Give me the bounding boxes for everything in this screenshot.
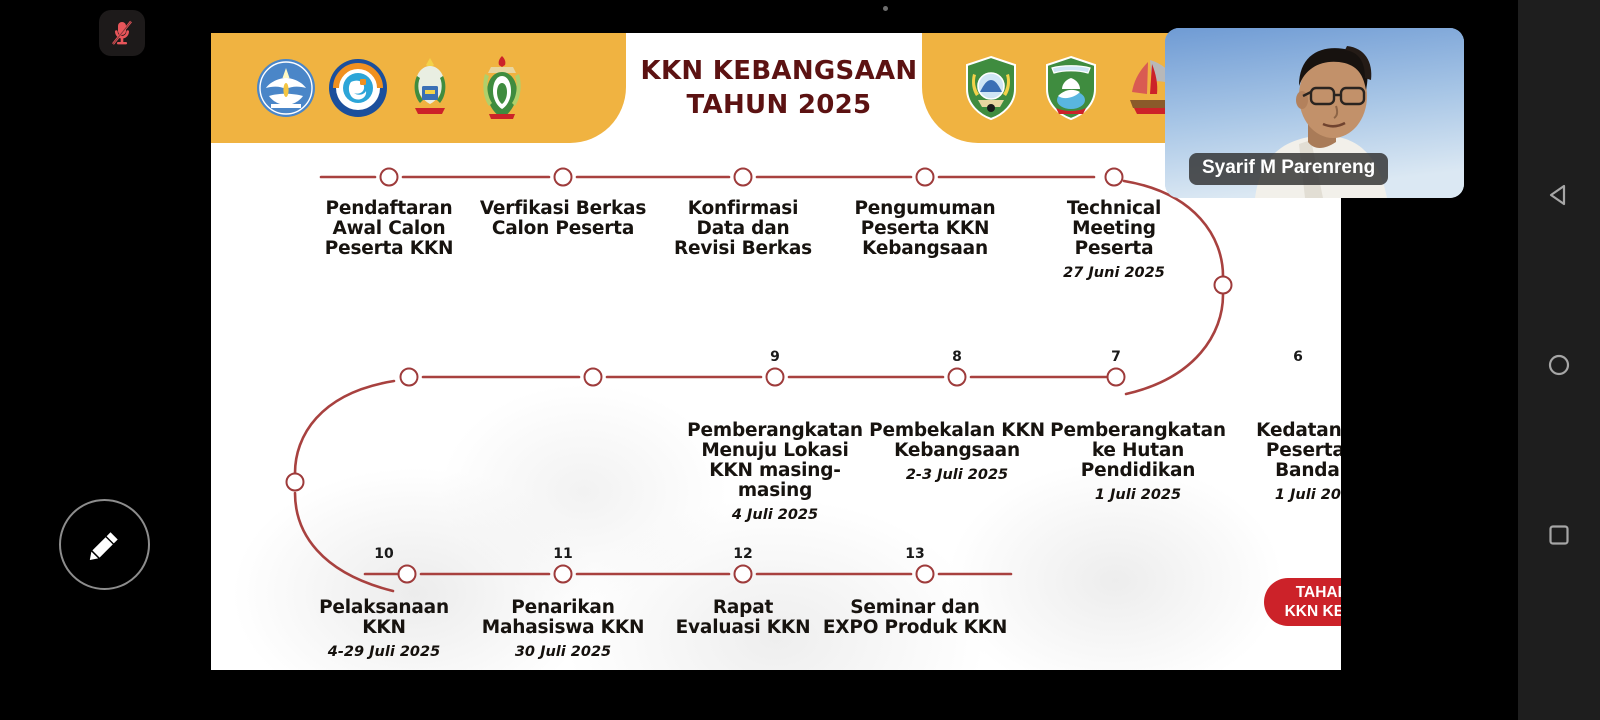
back-triangle-icon <box>1544 180 1574 210</box>
pencil-icon <box>85 525 125 565</box>
timeline-node[interactable] <box>1107 368 1126 387</box>
status-badge-line1: TAHAPAN PELAKSANAAN <box>1296 583 1341 602</box>
timeline-step-date: 1 Juli 2025 <box>1228 485 1341 505</box>
timeline-step-number: 12 <box>733 546 752 562</box>
home-circle-icon <box>1544 350 1574 380</box>
timeline-step-number: 6 <box>1293 349 1303 365</box>
timeline-step-date: 4 Juli 2025 <box>675 505 875 525</box>
status-badge-line2: KKN KEBANGSAAN GEL. 114 <box>1285 602 1341 621</box>
timeline-step-label: KonfirmasiData danRevisi Berkas <box>643 199 843 259</box>
timeline-node[interactable] <box>584 368 603 387</box>
recents-square-icon <box>1544 520 1574 550</box>
timeline-node[interactable] <box>734 565 753 584</box>
timeline-step-label: Verfikasi BerkasCalon Peserta <box>453 199 673 239</box>
nav-recents-button[interactable] <box>1542 518 1576 552</box>
timeline-node[interactable] <box>1105 168 1124 187</box>
timeline-node[interactable] <box>734 168 753 187</box>
timeline-node[interactable] <box>916 565 935 584</box>
timeline-step-date: 4-29 Juli 2025 <box>289 642 479 662</box>
participant-video-tile[interactable]: Syarif M Parenreng <box>1165 28 1464 198</box>
timeline-step-number: 13 <box>905 546 924 562</box>
timeline-step-title: Pemberangkatanke HutanPendidikan <box>1050 420 1226 481</box>
timeline-node[interactable] <box>948 368 967 387</box>
timeline-step-title: PenarikanMahasiswa KKN <box>482 597 644 638</box>
nav-home-button[interactable] <box>1542 348 1576 382</box>
screen-root: KKN KEBANGSAAN TAHUN 2025 <box>0 0 1600 720</box>
microphone-mute-button[interactable] <box>99 10 145 56</box>
timeline-step-number: 9 <box>770 349 780 365</box>
timeline-step-title: PelaksanaanKKN <box>319 597 449 638</box>
android-navigation-bar <box>1518 0 1600 720</box>
camera-dot-indicator <box>883 6 888 11</box>
timeline-node[interactable] <box>380 168 399 187</box>
timeline-step-date: 27 Juni 2025 <box>1029 263 1199 283</box>
timeline-step-label: PemberangkatanMenuju LokasiKKN masing-ma… <box>675 421 875 525</box>
timeline-step-label: PelaksanaanKKN 4-29 Juli 2025 <box>289 598 479 662</box>
timeline-step-label: Pemberangkatanke HutanPendidikan 1 Juli … <box>1043 421 1233 505</box>
status-badge: TAHAPAN PELAKSANAAN KKN KEBANGSAAN GEL. … <box>1264 578 1341 626</box>
timeline-step-date: 2-3 Juli 2025 <box>852 465 1062 485</box>
timeline-step-label: KedatanganPeserta diBandara 1 Juli 2025 <box>1228 421 1341 505</box>
timeline-step-label: Seminar danEXPO Produk KKN <box>800 598 1030 638</box>
timeline-step-label: Pembekalan KKNKebangsaan 2-3 Juli 2025 <box>852 421 1062 485</box>
timeline-step-number: 7 <box>1111 349 1121 365</box>
timeline-step-date: 30 Juli 2025 <box>458 642 668 662</box>
timeline-step-title: PemberangkatanMenuju LokasiKKN masing-ma… <box>687 420 863 501</box>
timeline-step-title: KedatanganPeserta diBandara <box>1256 420 1341 481</box>
timeline-step-title: TechnicalMeetingPeserta <box>1067 198 1161 259</box>
timeline-step-label: PengumumanPeserta KKNKebangsaan <box>825 199 1025 259</box>
timeline-step-label: TechnicalMeetingPeserta 27 Juni 2025 <box>1029 199 1199 283</box>
timeline-step-number: 11 <box>553 546 572 562</box>
timeline-node[interactable] <box>916 168 935 187</box>
timeline-step-label: PenarikanMahasiswa KKN 30 Juli 2025 <box>458 598 668 662</box>
timeline-node[interactable] <box>554 565 573 584</box>
timeline-node-arc-right[interactable] <box>1214 276 1233 295</box>
participant-name-label: Syarif M Parenreng <box>1189 153 1388 185</box>
timeline-step-number: 8 <box>952 349 962 365</box>
microphone-muted-icon <box>109 19 135 47</box>
annotate-pencil-button[interactable] <box>59 499 150 590</box>
timeline-step-title: Pembekalan KKNKebangsaan <box>869 420 1045 461</box>
timeline-node[interactable] <box>400 368 419 387</box>
timeline-node-arc-left[interactable] <box>286 473 305 492</box>
timeline-node[interactable] <box>766 368 785 387</box>
nav-back-button[interactable] <box>1542 178 1576 212</box>
timeline-node[interactable] <box>398 565 417 584</box>
timeline-step-number: 10 <box>374 546 393 562</box>
timeline-step-date: 1 Juli 2025 <box>1043 485 1233 505</box>
timeline-node[interactable] <box>554 168 573 187</box>
